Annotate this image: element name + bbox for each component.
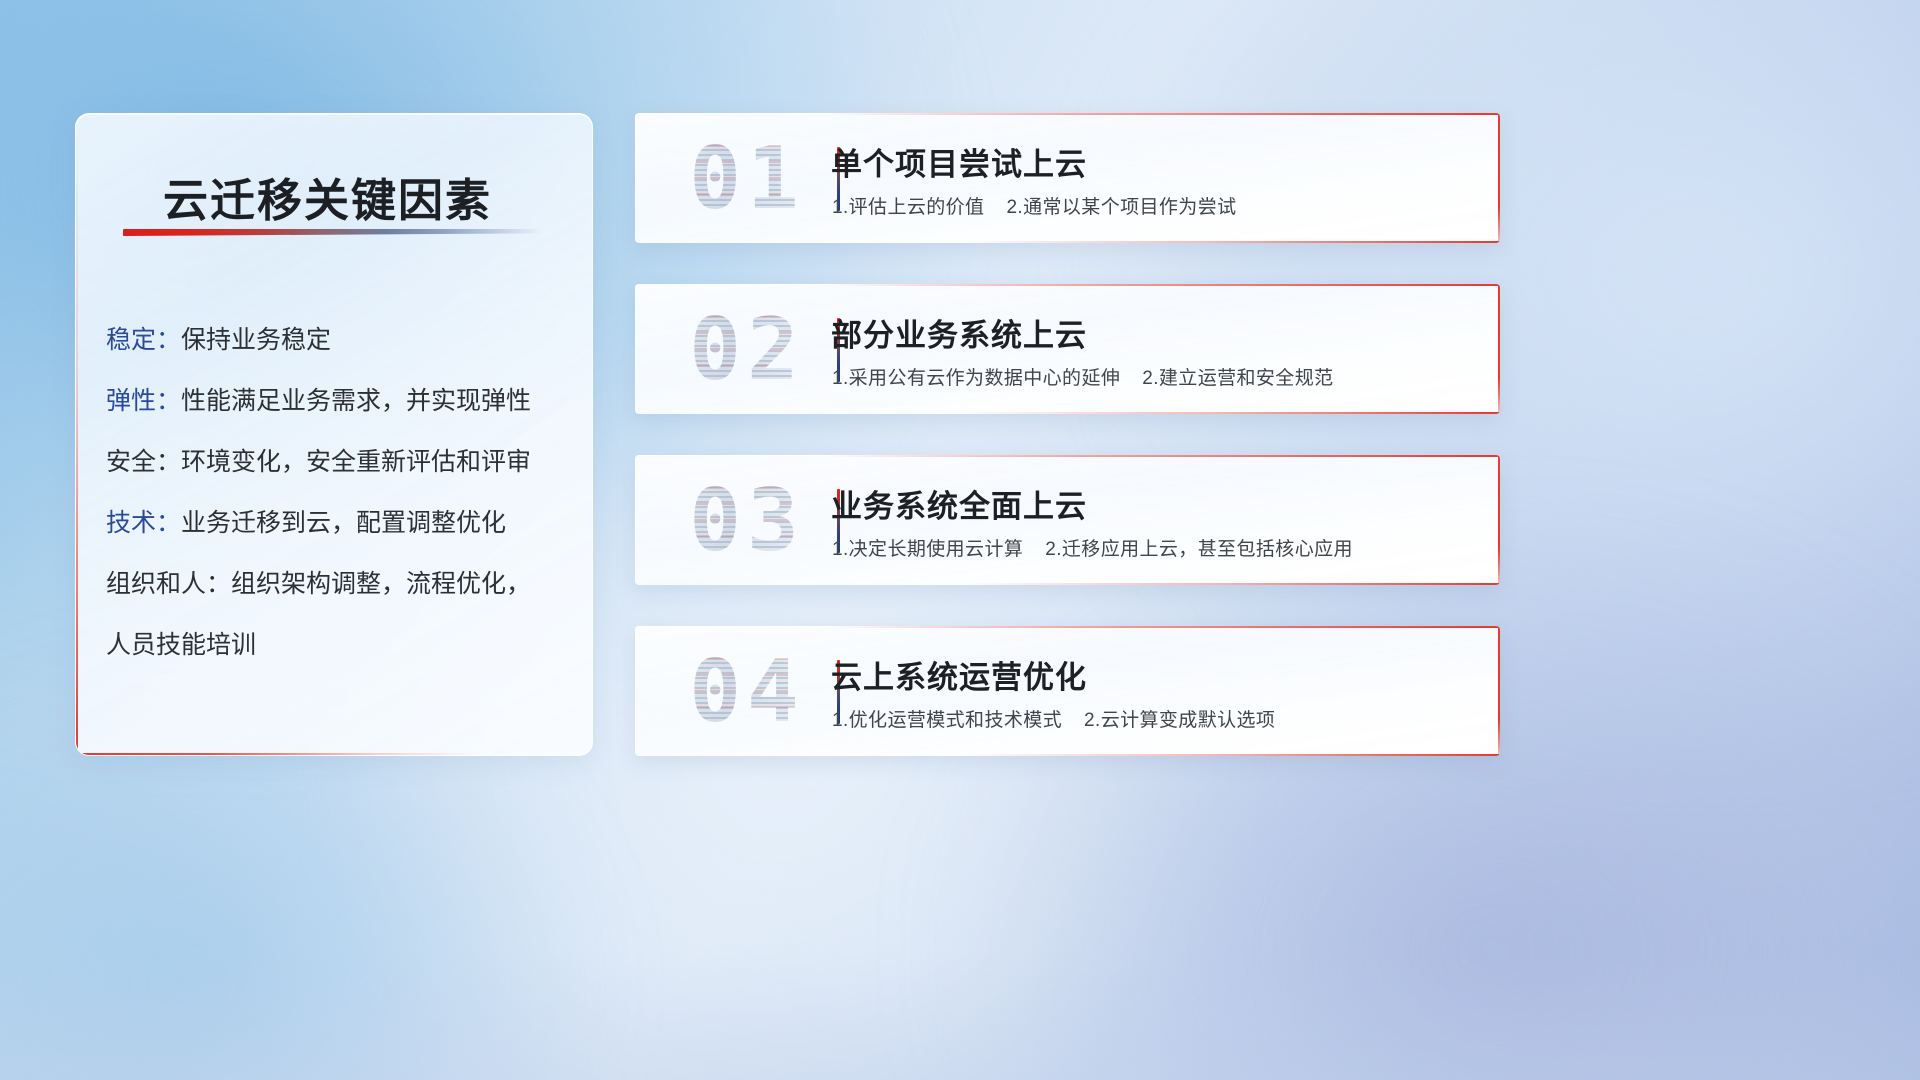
title-underline-gradient: [123, 229, 542, 236]
card-accent-bottom: [964, 583, 1500, 585]
stage-number-04-tint: 04: [657, 642, 837, 742]
list-item-text: 保持业务稳定: [181, 326, 331, 354]
stage-title: 业务系统全面上云: [831, 481, 1087, 526]
stage-description: 1.评估上云的价值2.通常以某个项目作为尝试: [832, 192, 1237, 219]
stage-number-02-tint: 02: [657, 300, 837, 400]
card-edge-left: [635, 626, 636, 756]
list-item-label: 稳定：: [106, 326, 181, 354]
card-edge-left: [635, 455, 636, 585]
stage-point-1: 1.采用公有云作为数据中心的延伸: [832, 368, 1120, 389]
stage-number-03-tint: 03: [657, 471, 837, 571]
stage-title: 部分业务系统上云: [831, 310, 1087, 355]
card-accent-bottom: [964, 412, 1500, 414]
card-accent-top: [825, 455, 1500, 457]
card-accent-top: [825, 284, 1500, 286]
card-accent-top: [825, 626, 1500, 628]
card-accent-right: [1498, 284, 1500, 414]
list-item: 技术：业务迁移到云，配置调整优化: [106, 493, 568, 554]
list-item: 组织和人：组织架构调整，流程优化，: [106, 554, 568, 615]
stage-card-02[interactable]: 02 02 部分业务系统上云 1.采用公有云作为数据中心的延伸2.建立运营和安全…: [635, 284, 1500, 414]
list-item-text: 业务迁移到云，配置调整优化: [181, 509, 506, 537]
card-accent-right: [1498, 455, 1500, 585]
slide-stage: 云迁移关键因素 稳定：保持业务稳定 弹性：性能满足业务需求，并实现弹性 安全：环…: [0, 0, 1920, 1080]
stage-card-01[interactable]: 01 01 单个项目尝试上云 1.评估上云的价值2.通常以某个项目作为尝试: [635, 113, 1500, 243]
list-item-text: 人员技能培训: [106, 631, 256, 659]
list-item: 人员技能培训: [106, 615, 568, 676]
list-item-text: 环境变化，安全重新评估和评审: [181, 448, 531, 476]
key-factors-list: 稳定：保持业务稳定 弹性：性能满足业务需求，并实现弹性 安全：环境变化，安全重新…: [106, 310, 568, 676]
stage-card-04[interactable]: 04 04 云上系统运营优化 1.优化运营模式和技术模式2.云计算变成默认选项: [635, 626, 1500, 756]
panel-title: 云迁移关键因素: [163, 164, 492, 229]
list-item: 弹性：性能满足业务需求，并实现弹性: [106, 371, 568, 432]
list-item-label: 安全：: [106, 448, 181, 476]
list-item-label: 技术：: [106, 509, 181, 537]
stage-point-1: 1.优化运营模式和技术模式: [832, 710, 1062, 731]
stage-point-1: 1.决定长期使用云计算: [832, 539, 1023, 560]
card-edge-left: [635, 284, 636, 414]
card-accent-bottom: [964, 241, 1500, 243]
list-item-text: 组织架构调整，流程优化，: [231, 570, 531, 598]
stage-card-03[interactable]: 03 03 业务系统全面上云 1.决定长期使用云计算2.迁移应用上云，甚至包括核…: [635, 455, 1500, 585]
stage-point-2: 2.云计算变成默认选项: [1084, 710, 1275, 731]
list-item-text: 性能满足业务需求，并实现弹性: [181, 387, 531, 415]
stage-point-2: 2.通常以某个项目作为尝试: [1006, 197, 1236, 218]
stage-point-2: 2.建立运营和安全规范: [1142, 368, 1333, 389]
stage-title: 单个项目尝试上云: [831, 139, 1087, 184]
stage-title: 云上系统运营优化: [831, 652, 1087, 697]
card-accent-bottom: [964, 754, 1500, 756]
list-item-label: 组织和人：: [106, 570, 231, 598]
stage-description: 1.决定长期使用云计算2.迁移应用上云，甚至包括核心应用: [832, 534, 1353, 561]
key-factors-panel: 云迁移关键因素 稳定：保持业务稳定 弹性：性能满足业务需求，并实现弹性 安全：环…: [75, 113, 593, 756]
stage-description: 1.优化运营模式和技术模式2.云计算变成默认选项: [832, 705, 1275, 732]
card-accent-top: [825, 113, 1500, 115]
stage-point-1: 1.评估上云的价值: [832, 197, 984, 218]
stage-point-2: 2.迁移应用上云，甚至包括核心应用: [1045, 539, 1353, 560]
stage-number-01-tint: 01: [657, 129, 837, 229]
list-item: 安全：环境变化，安全重新评估和评审: [106, 432, 568, 493]
card-edge-left: [635, 113, 636, 243]
list-item-label: 弹性：: [106, 387, 181, 415]
stage-description: 1.采用公有云作为数据中心的延伸2.建立运营和安全规范: [832, 363, 1334, 390]
card-accent-right: [1498, 113, 1500, 243]
card-accent-right: [1498, 626, 1500, 756]
list-item: 稳定：保持业务稳定: [106, 310, 568, 371]
